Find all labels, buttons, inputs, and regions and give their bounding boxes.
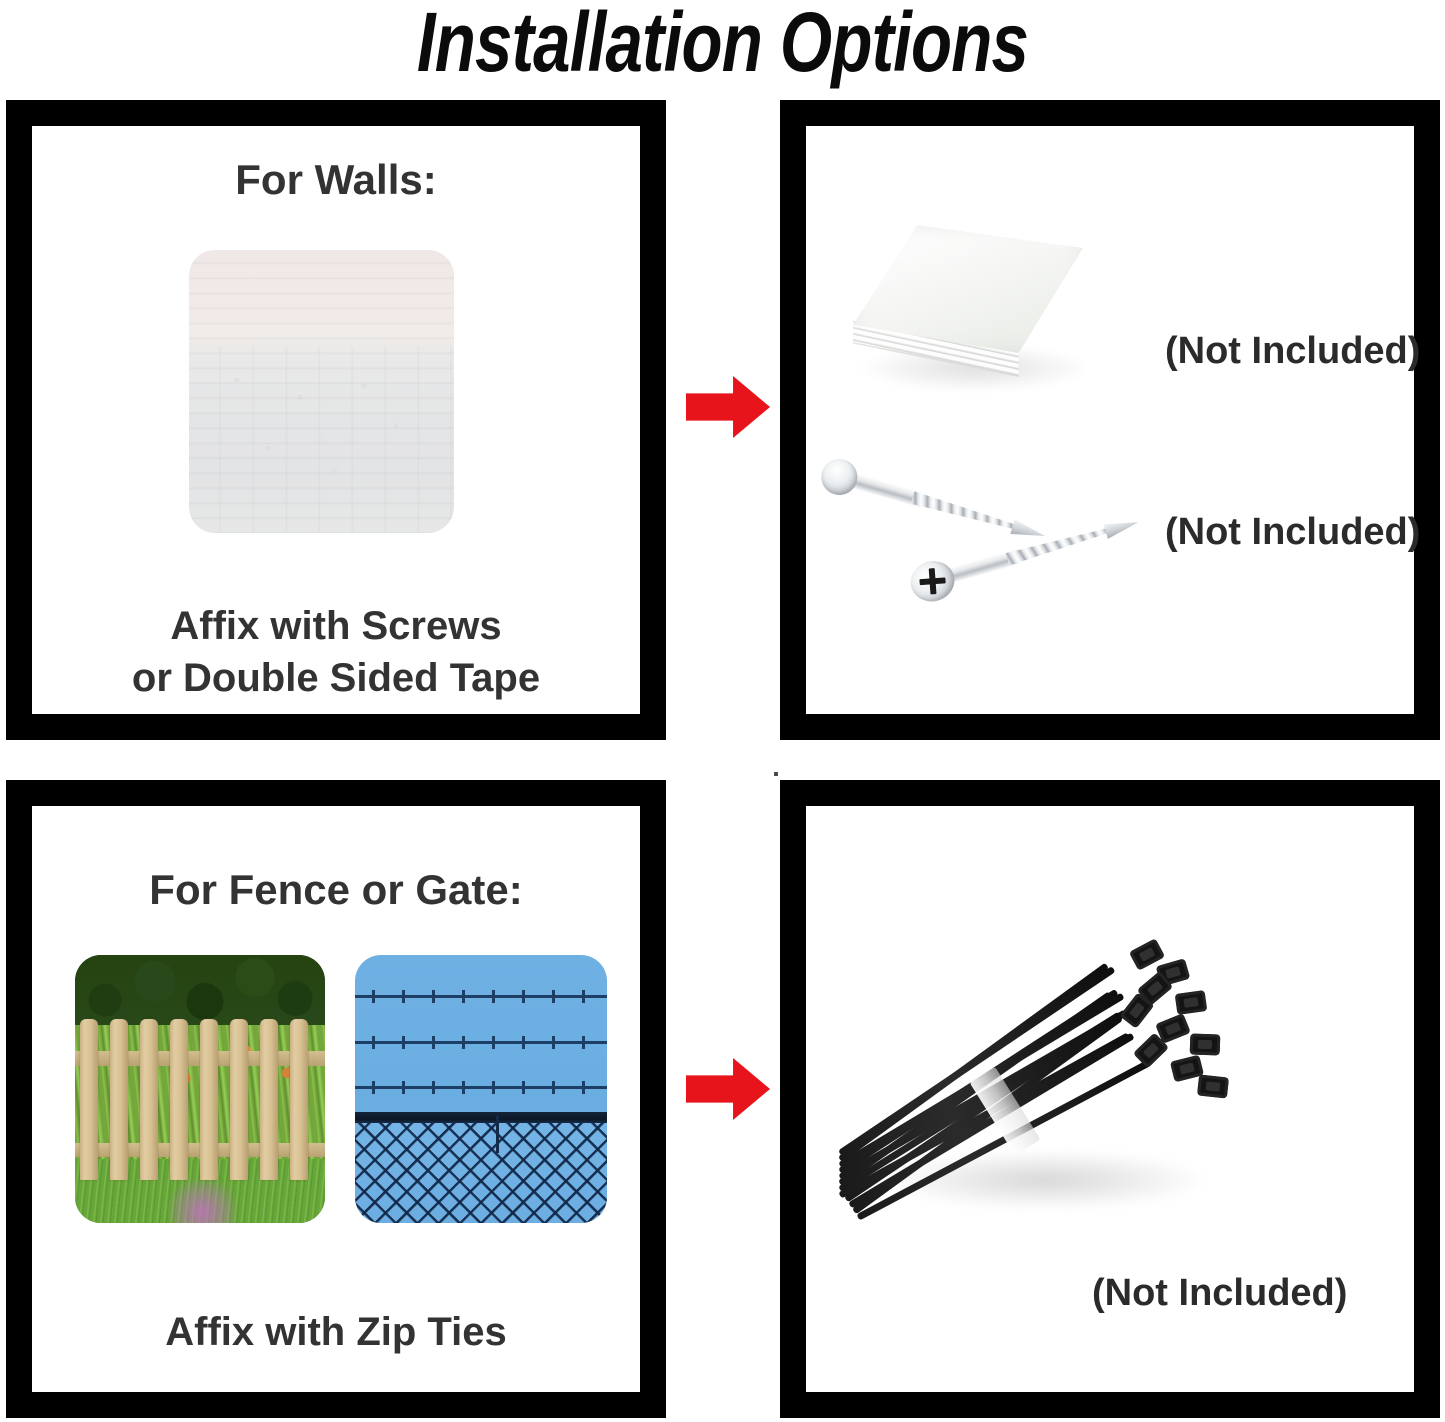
page-title: Installation Options xyxy=(145,0,1301,90)
panel-for-walls-inner: For Walls: Affix with Screws or Double S… xyxy=(32,126,640,714)
right-arrow-icon-bottom xyxy=(686,1058,770,1120)
fence-picket xyxy=(110,1019,128,1180)
walls-caption-line-2: or Double Sided Tape xyxy=(32,652,640,704)
zip-tie-head xyxy=(1175,990,1208,1015)
screws-not-included-note: (Not Included) xyxy=(1165,511,1420,553)
for-walls-heading: For Walls: xyxy=(32,156,640,204)
brick-wall-texture xyxy=(189,250,454,533)
white-brick-wall-image xyxy=(189,250,454,533)
fence-picket xyxy=(80,1019,98,1180)
fence-picket xyxy=(230,1019,248,1180)
fence-picket xyxy=(140,1019,158,1180)
installation-options-infographic: Installation Options For Walls: Affix wi… xyxy=(0,0,1445,1422)
zip-tie-head xyxy=(1190,1033,1221,1055)
barbed-wire-strand xyxy=(355,995,607,998)
panel-wall-hardware-inner xyxy=(806,126,1414,714)
panel-for-walls: For Walls: Affix with Screws or Double S… xyxy=(6,100,666,740)
phillips-cross-icon xyxy=(919,567,947,595)
for-fence-or-gate-heading: For Fence or Gate: xyxy=(32,866,640,914)
barbed-wire-strand xyxy=(355,1041,607,1044)
zip-tie-head xyxy=(1197,1074,1229,1098)
right-arrow-icon-top xyxy=(686,376,770,438)
image-artifact xyxy=(774,772,778,776)
fence-picket xyxy=(290,1019,308,1180)
panel-wall-hardware xyxy=(780,100,1440,740)
fence-caption: Affix with Zip Ties xyxy=(32,1306,640,1358)
fence-picket xyxy=(200,1019,218,1180)
double-sided-tape-stack-image xyxy=(845,225,1110,400)
chain-link-mesh xyxy=(355,1123,607,1224)
fence-tie-wire xyxy=(496,1116,499,1154)
wooden-picket-fence-image xyxy=(75,955,325,1223)
fence-path xyxy=(170,1180,235,1223)
walls-caption-line-1: Affix with Screws xyxy=(32,600,640,652)
fence-picket xyxy=(260,1019,278,1180)
zipties-not-included-note: (Not Included) xyxy=(1092,1272,1347,1314)
fence-picket xyxy=(170,1019,188,1180)
barbed-wire-strand xyxy=(355,1086,607,1089)
chain-link-fence-image xyxy=(355,955,607,1223)
tape-not-included-note: (Not Included) xyxy=(1165,330,1420,372)
black-zip-tie-bundle-image xyxy=(840,900,1320,1280)
